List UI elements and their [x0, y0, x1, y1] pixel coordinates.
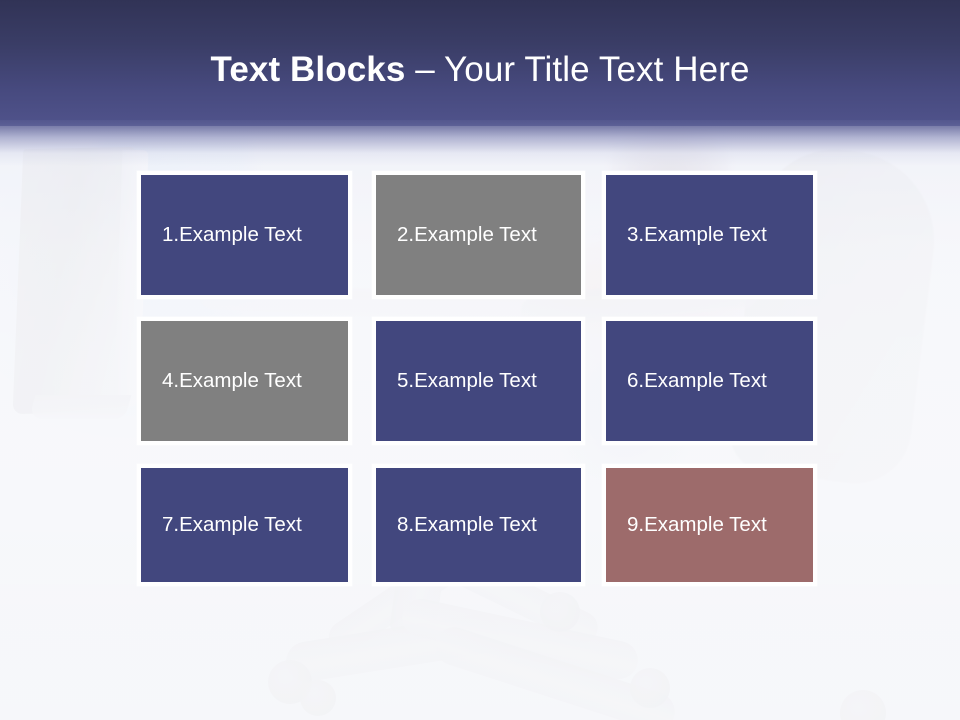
text-block-7-label: 7.Example Text [141, 512, 302, 538]
slide-header-fade [0, 120, 960, 166]
text-block-6-label: 6.Example Text [606, 368, 767, 394]
text-block-5-label: 5.Example Text [376, 368, 537, 394]
text-block-4-label: 4.Example Text [141, 368, 302, 394]
page-title-separator: – [415, 50, 444, 89]
page-title-strong: Text Blocks [210, 50, 415, 89]
text-block-5[interactable]: 5.Example Text [372, 317, 585, 445]
text-block-9[interactable]: 9.Example Text [602, 464, 817, 586]
page-title-light: Your Title Text Here [444, 50, 750, 89]
slide-canvas: Text Blocks – Your Title Text Here 1.Exa… [0, 0, 960, 720]
text-block-1-label: 1.Example Text [141, 222, 302, 248]
text-block-8-label: 8.Example Text [376, 512, 537, 538]
text-block-1[interactable]: 1.Example Text [137, 171, 352, 299]
text-block-9-label: 9.Example Text [606, 512, 767, 538]
text-block-3[interactable]: 3.Example Text [602, 171, 817, 299]
text-block-8[interactable]: 8.Example Text [372, 464, 585, 586]
text-block-2[interactable]: 2.Example Text [372, 171, 585, 299]
text-blocks-grid: 1.Example Text 2.Example Text 3.Example … [137, 171, 817, 586]
text-block-7[interactable]: 7.Example Text [137, 464, 352, 586]
text-block-4[interactable]: 4.Example Text [137, 317, 352, 445]
page-title: Text Blocks – Your Title Text Here [0, 48, 960, 92]
text-block-3-label: 3.Example Text [606, 222, 767, 248]
text-block-2-label: 2.Example Text [376, 222, 537, 248]
text-block-6[interactable]: 6.Example Text [602, 317, 817, 445]
